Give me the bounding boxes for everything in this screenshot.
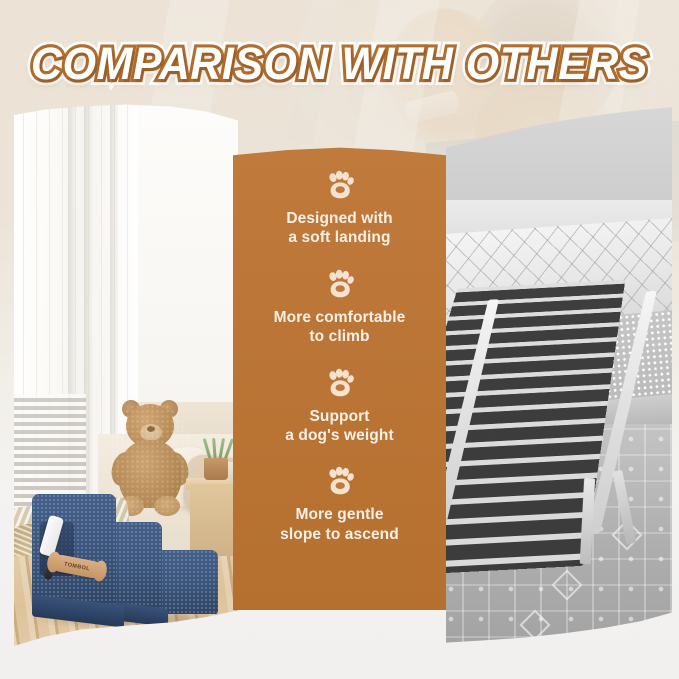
feature-item-2: More comfortable to climb	[233, 269, 446, 347]
feature-item-1: Designed with a soft landing	[233, 170, 446, 248]
feature-label: More comfortable to climb	[274, 308, 406, 347]
feature-label: Designed with a soft landing	[286, 209, 392, 248]
page-title-text: COMPARISON WITH OTHERS	[31, 39, 648, 91]
page-title: COMPARISON WITH OTHERS COMPARISON WITH O…	[0, 40, 679, 89]
brand-tag-label: TOMBOL	[64, 561, 91, 572]
feature-panel: Designed with a soft landing More comfor…	[233, 146, 446, 610]
infographic-canvas: TOMBOL	[0, 0, 679, 679]
our-product-photo: TOMBOL	[14, 104, 238, 652]
competitor-product-photo	[446, 104, 672, 652]
feature-list: Designed with a soft landing More comfor…	[233, 170, 446, 565]
paw-icon	[324, 466, 356, 496]
competitor-pet-ramp	[458, 280, 639, 538]
feature-item-4: More gentle slope to ascend	[233, 466, 446, 544]
paw-icon	[324, 368, 356, 398]
feature-item-3: Support a dog's weight	[233, 368, 446, 446]
feature-label: More gentle slope to ascend	[280, 505, 399, 544]
paw-icon	[324, 269, 356, 299]
paw-icon	[324, 170, 356, 200]
pet-stairs-product: TOMBOL	[32, 476, 222, 624]
feature-label: Support a dog's weight	[285, 407, 393, 446]
